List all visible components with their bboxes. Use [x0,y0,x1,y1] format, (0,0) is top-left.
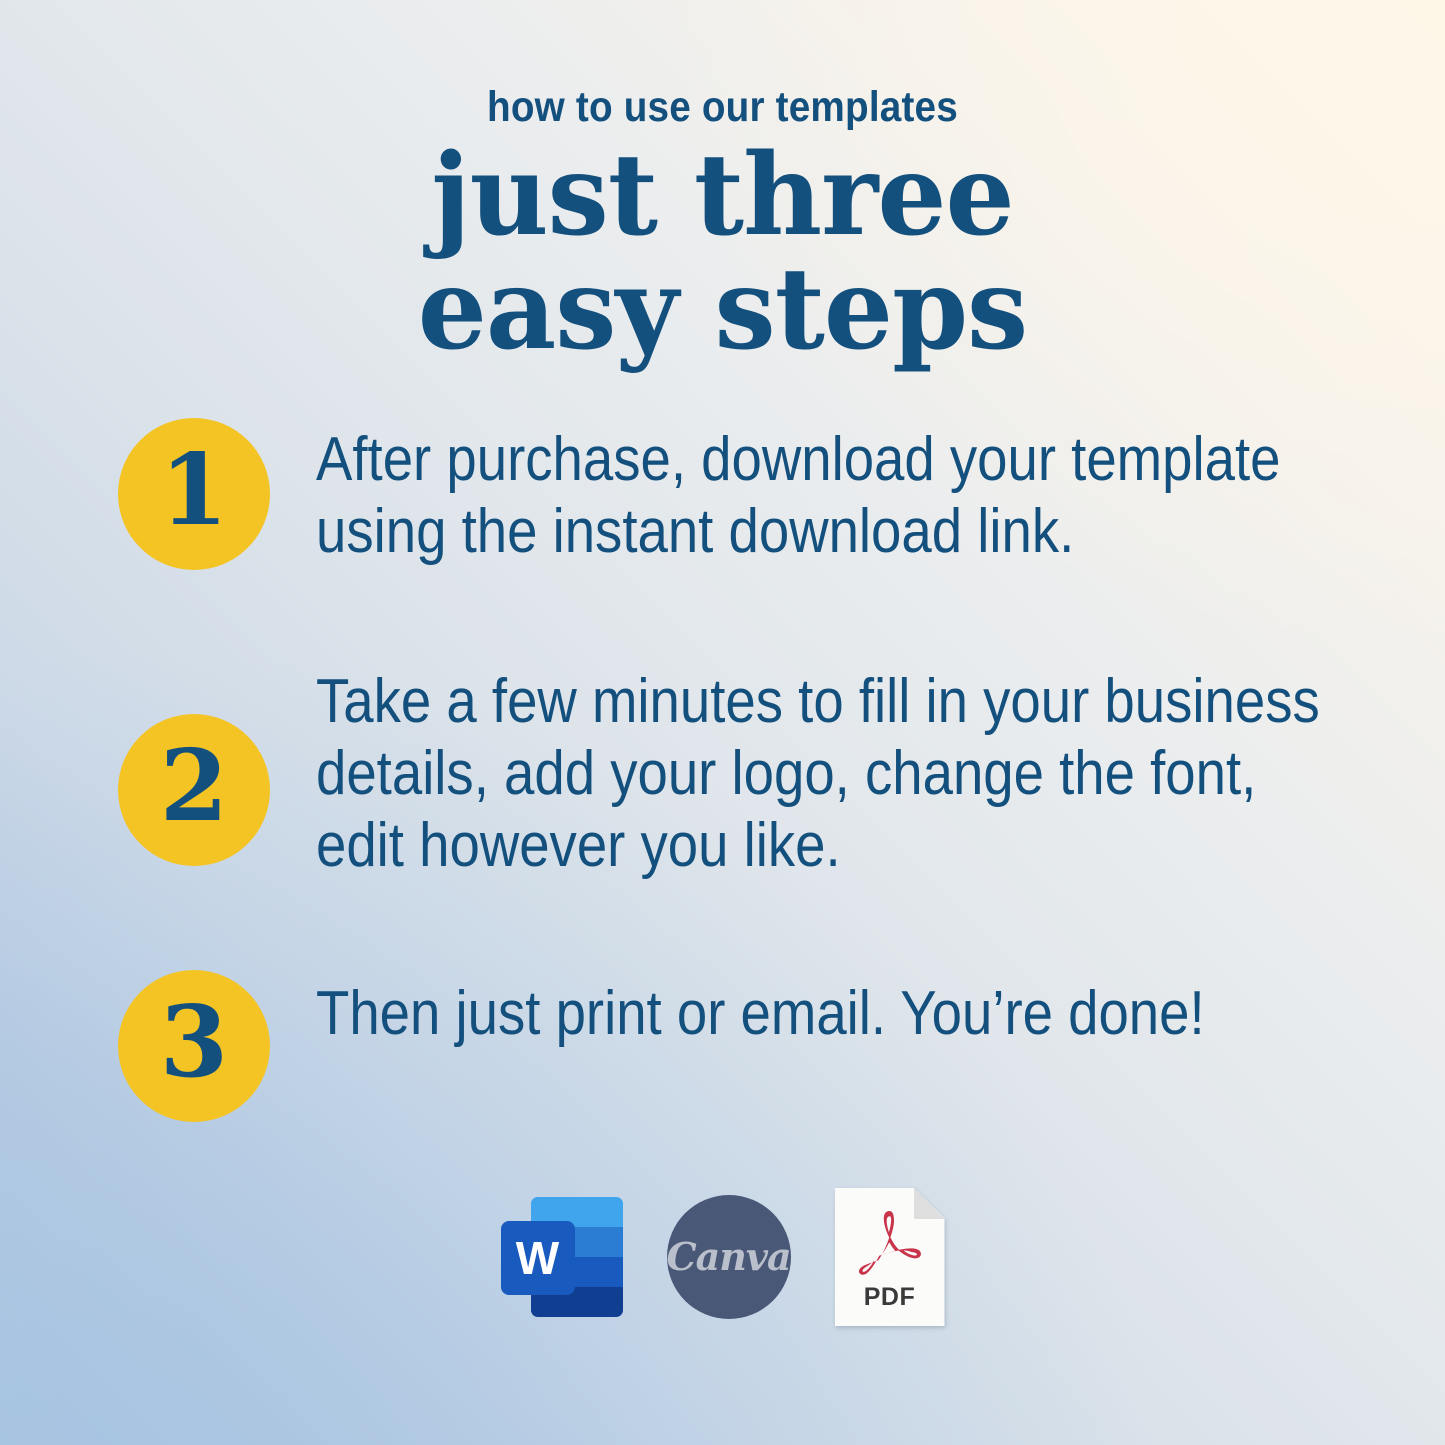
step-number-2: 2 [160,738,228,836]
microsoft-word-icon: W [501,1191,623,1323]
step-item-1: 1 After purchase, download your template… [0,424,1445,570]
acrobat-swirl-icon [851,1204,929,1287]
step-number-1: 1 [160,442,228,540]
file-format-logos: W Canva PDF [0,1188,1445,1326]
step-text-2: Take a few minutes to fill in your busin… [316,666,1320,882]
step-number-3: 3 [160,994,228,1092]
step-text-1: After purchase, download your template u… [316,424,1280,568]
eyebrow-text: how to use our templates [72,86,1373,129]
pdf-label: PDF [835,1285,945,1310]
canva-icon: Canva [667,1195,791,1319]
poster-canvas: how to use our templates just three easy… [0,0,1445,1445]
headline-line-1: just three [22,139,1424,253]
step-2-line-1: Take a few minutes to fill in your busin… [316,666,1320,738]
word-letter-tile: W [501,1221,575,1295]
step-text-3: Then just print or email. You’re done! [316,978,1257,1050]
step-badge-1: 1 [118,418,270,570]
step-item-3: 3 Then just print or email. You’re done! [0,978,1445,1122]
step-badge-3: 3 [118,970,270,1122]
step-1-line-2: using the instant download link. [316,496,1280,568]
step-2-line-3: edit however you like. [316,810,1320,882]
headline-line-2: easy steps [22,253,1424,367]
step-badge-2: 2 [118,714,270,866]
step-3-line-1: Then just print or email. You’re done! [316,978,1257,1050]
word-letter: W [516,1235,559,1281]
canva-wordmark: Canva [666,1238,790,1276]
page-title: just three easy steps [22,139,1424,367]
step-1-line-1: After purchase, download your template [316,424,1280,496]
steps-list: 1 After purchase, download your template… [0,424,1445,1122]
step-item-2: 2 Take a few minutes to fill in your bus… [0,666,1445,882]
pdf-icon: PDF [835,1188,945,1326]
header: how to use our templates just three easy… [0,0,1445,367]
step-2-line-2: details, add your logo, change the font, [316,738,1320,810]
